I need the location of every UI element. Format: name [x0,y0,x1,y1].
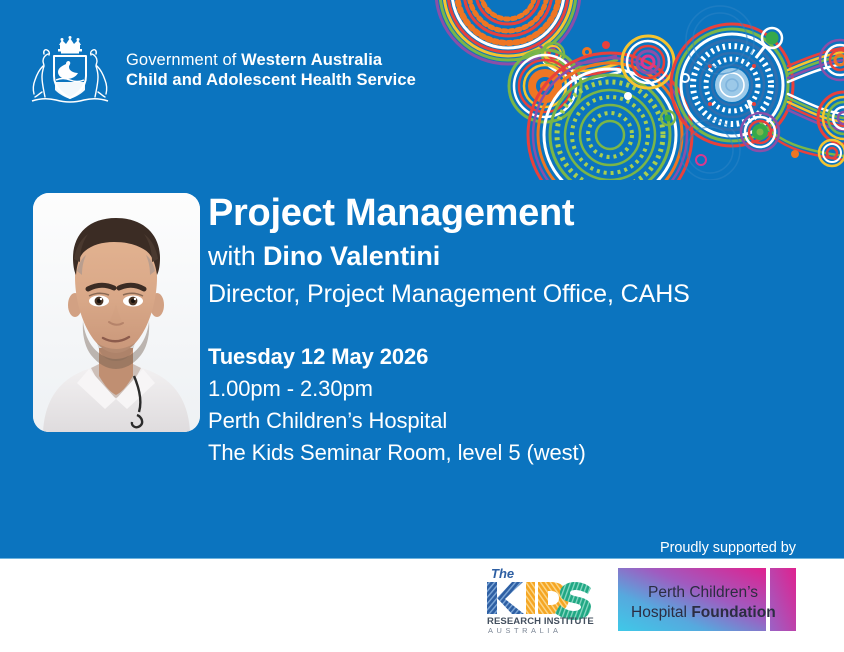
speaker-role: Director, Project Management Office, CAH… [208,278,738,311]
svg-text:AUSTRALIA: AUSTRALIA [488,626,561,634]
perth-childrens-hospital-foundation-logo: Perth Children’s Hospital Foundation [618,568,796,631]
the-kids-research-institute-logo: The RESEARCH INSTITUTE AUSTRALIA [483,564,596,634]
with-prefix: with [208,241,263,271]
event-time: 1.00pm - 2.30pm [208,373,808,405]
main-content: Project Management with Dino Valentini D… [208,192,808,469]
speaker-headshot-icon [33,193,200,432]
supported-by-label: Proudly supported by [660,540,796,556]
page-title: Project Management [208,192,808,235]
event-room: The Kids Seminar Room, level 5 (west) [208,437,808,469]
event-venue: Perth Children’s Hospital [208,405,808,437]
footer-logo-group: The RESEARCH INSTITUTE AUSTRALIA [483,564,796,634]
wa-state-crest-icon [26,34,114,106]
gov-logo-line1-prefix: Government of [126,51,241,69]
svg-text:Hospital Foundation: Hospital Foundation [631,604,776,621]
gov-logo-line-1: Government of Western Australia [126,50,416,70]
gov-logo-line-2: Child and Adolescent Health Service [126,70,416,90]
event-details: Tuesday 12 May 2026 1.00pm - 2.30pm Pert… [208,341,808,469]
footer-bar: The RESEARCH INSTITUTE AUSTRALIA [0,558,844,652]
svg-text:The: The [491,566,514,581]
government-logo-lockup: Government of Western Australia Child an… [26,34,416,106]
seminar-flyer: Government of Western Australia Child an… [0,0,844,652]
speaker-line: with Dino Valentini [208,239,808,274]
svg-text:Perth Children’s: Perth Children’s [648,584,758,601]
gov-logo-line1-bold: Western Australia [241,51,382,69]
speaker-name: Dino Valentini [263,241,440,271]
aboriginal-dot-art-icon [420,0,844,180]
event-date: Tuesday 12 May 2026 [208,341,808,373]
